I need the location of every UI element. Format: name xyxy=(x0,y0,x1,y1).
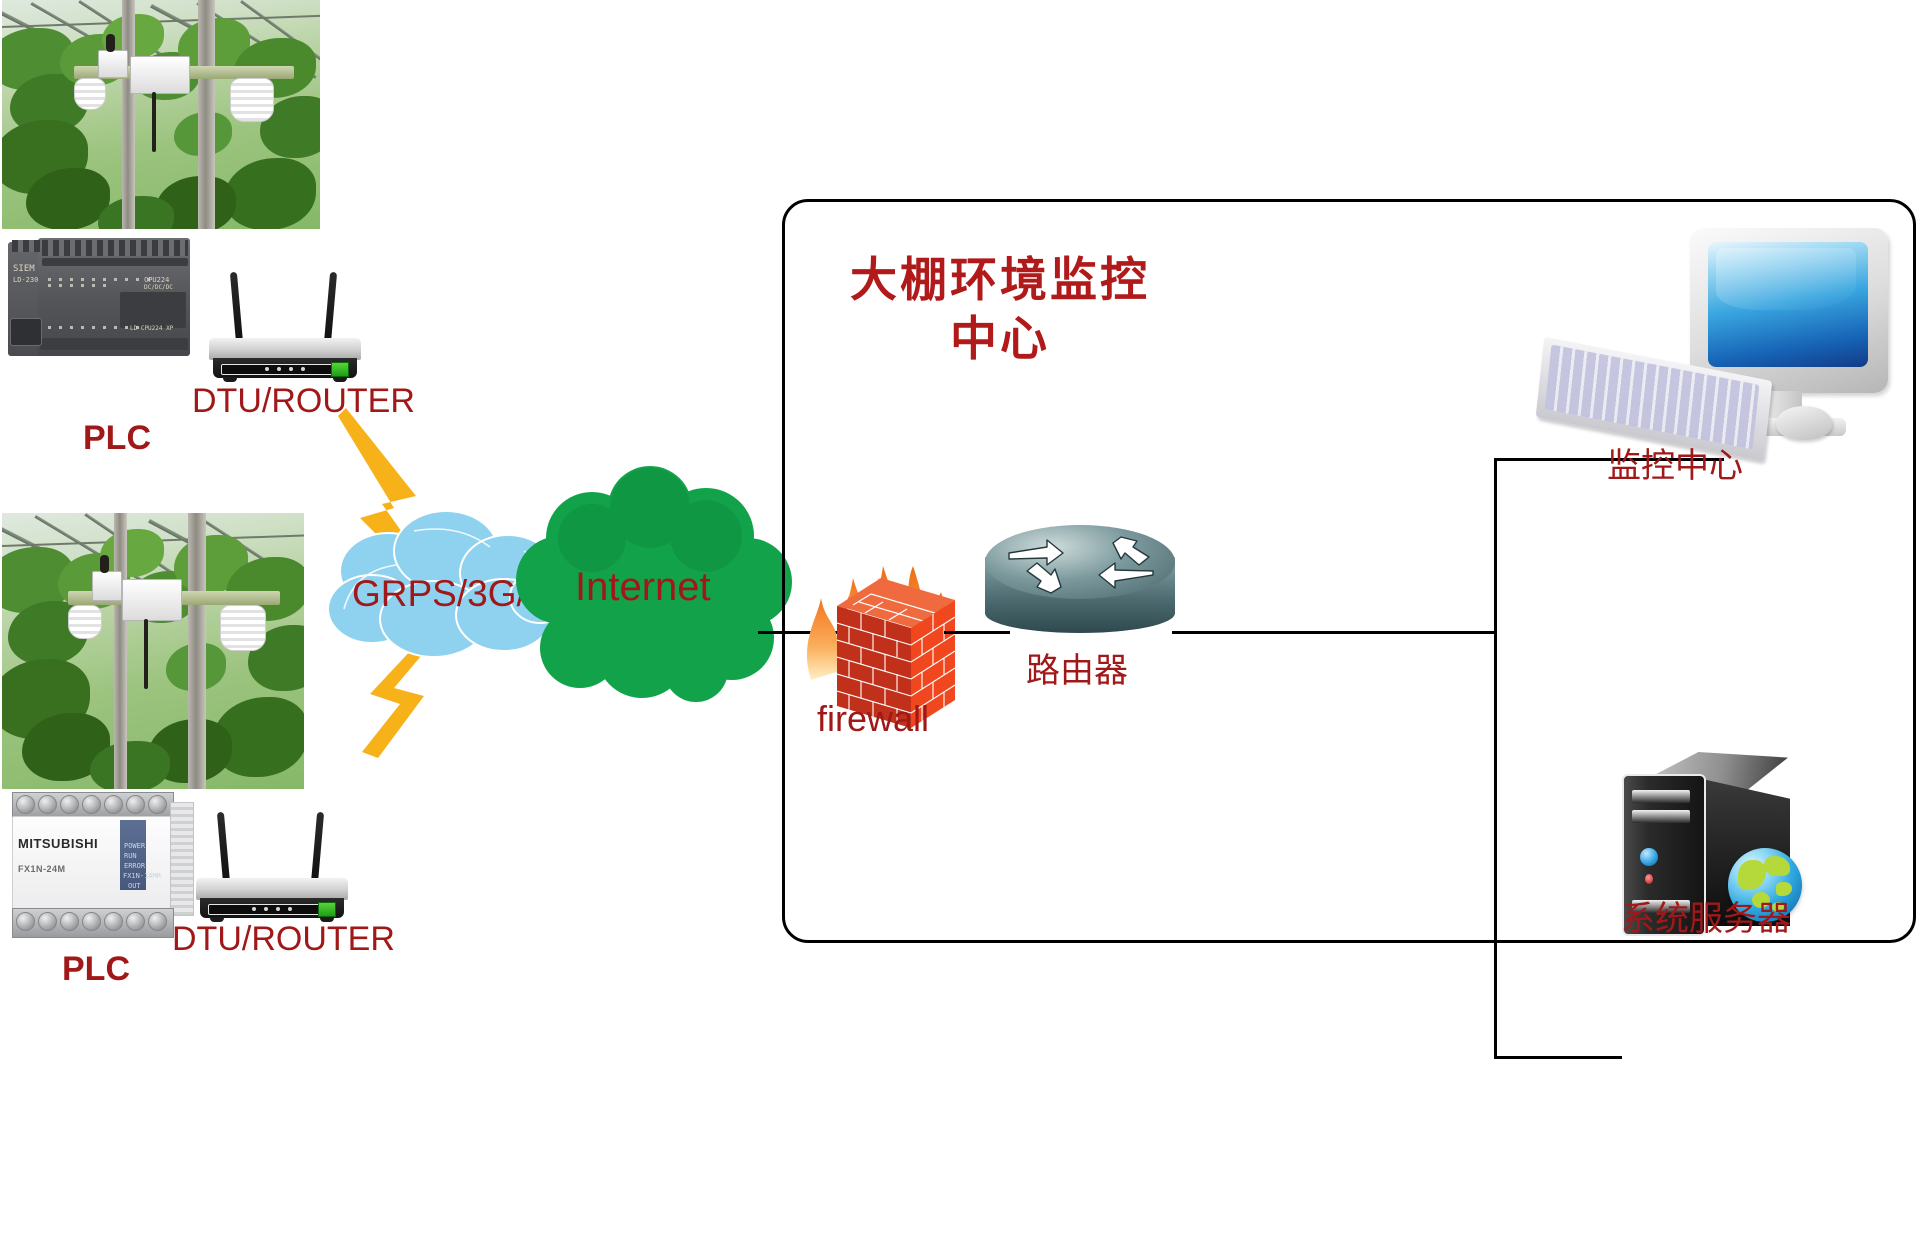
monitoring-center-title-line2: 中心 xyxy=(830,311,1170,370)
internet-cloud-label: Internet xyxy=(575,565,711,610)
link-bus-server xyxy=(1494,1056,1622,1059)
plc-siemens-model-left: LD-230 xyxy=(13,276,38,284)
greenhouse-photo-bottom xyxy=(2,513,304,789)
plc-bottom-label: PLC xyxy=(62,950,130,989)
greenhouse-photo-top xyxy=(2,0,320,229)
dtu-router-bottom-label: DTU/ROUTER xyxy=(172,920,395,959)
router-label: 路由器 xyxy=(1026,643,1128,692)
link-router-bus xyxy=(1172,631,1496,634)
monitoring-center-workstation xyxy=(1540,228,1900,458)
plc-siemens-model-right: CPU224 xyxy=(144,276,169,284)
plc-led-power: POWER xyxy=(124,842,145,850)
plc-siemens-brand: SIEM xyxy=(13,264,35,274)
plc-siemens-model-right2: DC/DC/DC xyxy=(144,284,173,291)
plc-led-model: FX1N-14MR xyxy=(123,872,161,880)
router-icon xyxy=(985,525,1175,653)
dtu-router-top-device xyxy=(205,272,365,382)
monitoring-center-title-line1: 大棚环境监控 xyxy=(830,252,1170,311)
dtu-router-bottom-device xyxy=(192,812,352,922)
plc-mitsubishi-device: MITSUBISHI FX1N-24M POWER RUN ERROR FX1N… xyxy=(4,790,194,940)
plc-mitsubishi-brand: MITSUBISHI xyxy=(18,836,98,851)
server-label: 系统服务器 xyxy=(1621,891,1791,940)
link-bus-vertical xyxy=(1494,458,1497,1059)
firewall-icon xyxy=(795,470,955,730)
network-topology-diagram: SIEM LD-230 CPU224 DC/DC/DC LD CPU224 XP… xyxy=(0,0,1920,1233)
plc-siemens-device: SIEM LD-230 CPU224 DC/DC/DC LD CPU224 XP xyxy=(4,232,194,362)
monitor-label: 监控中心 xyxy=(1607,438,1743,487)
firewall-label: firewall xyxy=(817,698,929,740)
monitoring-center-title: 大棚环境监控 中心 xyxy=(830,252,1170,370)
plc-led-out: OUT xyxy=(128,882,141,890)
plc-siemens-model-bottom: LD CPU224 XP xyxy=(130,325,173,332)
plc-led-run: RUN xyxy=(124,852,137,860)
plc-mitsubishi-model: FX1N-24M xyxy=(18,864,66,874)
plc-top-label: PLC xyxy=(83,419,151,458)
plc-led-error: ERROR xyxy=(124,862,145,870)
